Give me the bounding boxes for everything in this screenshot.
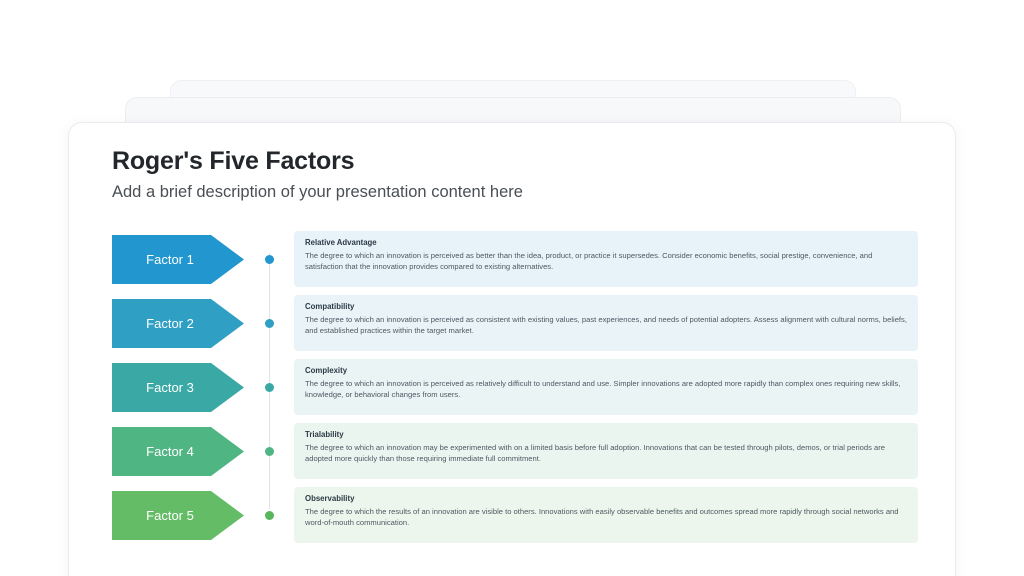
factor-title: Complexity — [305, 366, 907, 377]
factor-arrow-label: Factor 5 — [146, 508, 194, 523]
timeline-dot-2 — [265, 319, 274, 328]
slide-card: Roger's Five Factors Add a brief descrip… — [68, 122, 956, 576]
factor-arrow-2[interactable]: Factor 2 — [112, 299, 244, 348]
factor-arrow-4[interactable]: Factor 4 — [112, 427, 244, 476]
factor-panel-4[interactable]: Trialability The degree to which an inno… — [294, 423, 918, 479]
factor-arrow-label: Factor 2 — [146, 316, 194, 331]
factor-arrow-label: Factor 4 — [146, 444, 194, 459]
page-title: Roger's Five Factors — [112, 148, 523, 176]
timeline-dot-3 — [265, 383, 274, 392]
factor-arrow-1[interactable]: Factor 1 — [112, 235, 244, 284]
factor-list: Factor 1 Relative Advantage The degree t… — [112, 231, 918, 551]
slide-header: Roger's Five Factors Add a brief descrip… — [112, 148, 523, 202]
factor-row[interactable]: Factor 3 Complexity The degree to which … — [112, 359, 918, 423]
factor-title: Observability — [305, 494, 907, 505]
factor-row[interactable]: Factor 5 Observability The degree to whi… — [112, 487, 918, 551]
factor-panel-5[interactable]: Observability The degree to which the re… — [294, 487, 918, 543]
factor-description: The degree to which an innovation may be… — [305, 442, 907, 465]
timeline-dot-5 — [265, 511, 274, 520]
factor-arrow-3[interactable]: Factor 3 — [112, 363, 244, 412]
factor-description: The degree to which an innovation is per… — [305, 314, 907, 337]
factor-panel-2[interactable]: Compatibility The degree to which an inn… — [294, 295, 918, 351]
timeline-dot-4 — [265, 447, 274, 456]
factor-arrow-label: Factor 1 — [146, 252, 194, 267]
factor-row[interactable]: Factor 1 Relative Advantage The degree t… — [112, 231, 918, 295]
factor-title: Trialability — [305, 430, 907, 441]
page-subtitle: Add a brief description of your presenta… — [112, 183, 523, 203]
factor-description: The degree to which the results of an in… — [305, 506, 907, 529]
factor-row[interactable]: Factor 4 Trialability The degree to whic… — [112, 423, 918, 487]
factor-arrow-5[interactable]: Factor 5 — [112, 491, 244, 540]
factor-arrow-label: Factor 3 — [146, 380, 194, 395]
factor-panel-3[interactable]: Complexity The degree to which an innova… — [294, 359, 918, 415]
factor-row[interactable]: Factor 2 Compatibility The degree to whi… — [112, 295, 918, 359]
factor-description: The degree to which an innovation is per… — [305, 250, 907, 273]
factor-title: Relative Advantage — [305, 238, 907, 249]
factor-title: Compatibility — [305, 302, 907, 313]
factor-panel-1[interactable]: Relative Advantage The degree to which a… — [294, 231, 918, 287]
timeline-dot-1 — [265, 255, 274, 264]
factor-description: The degree to which an innovation is per… — [305, 378, 907, 401]
